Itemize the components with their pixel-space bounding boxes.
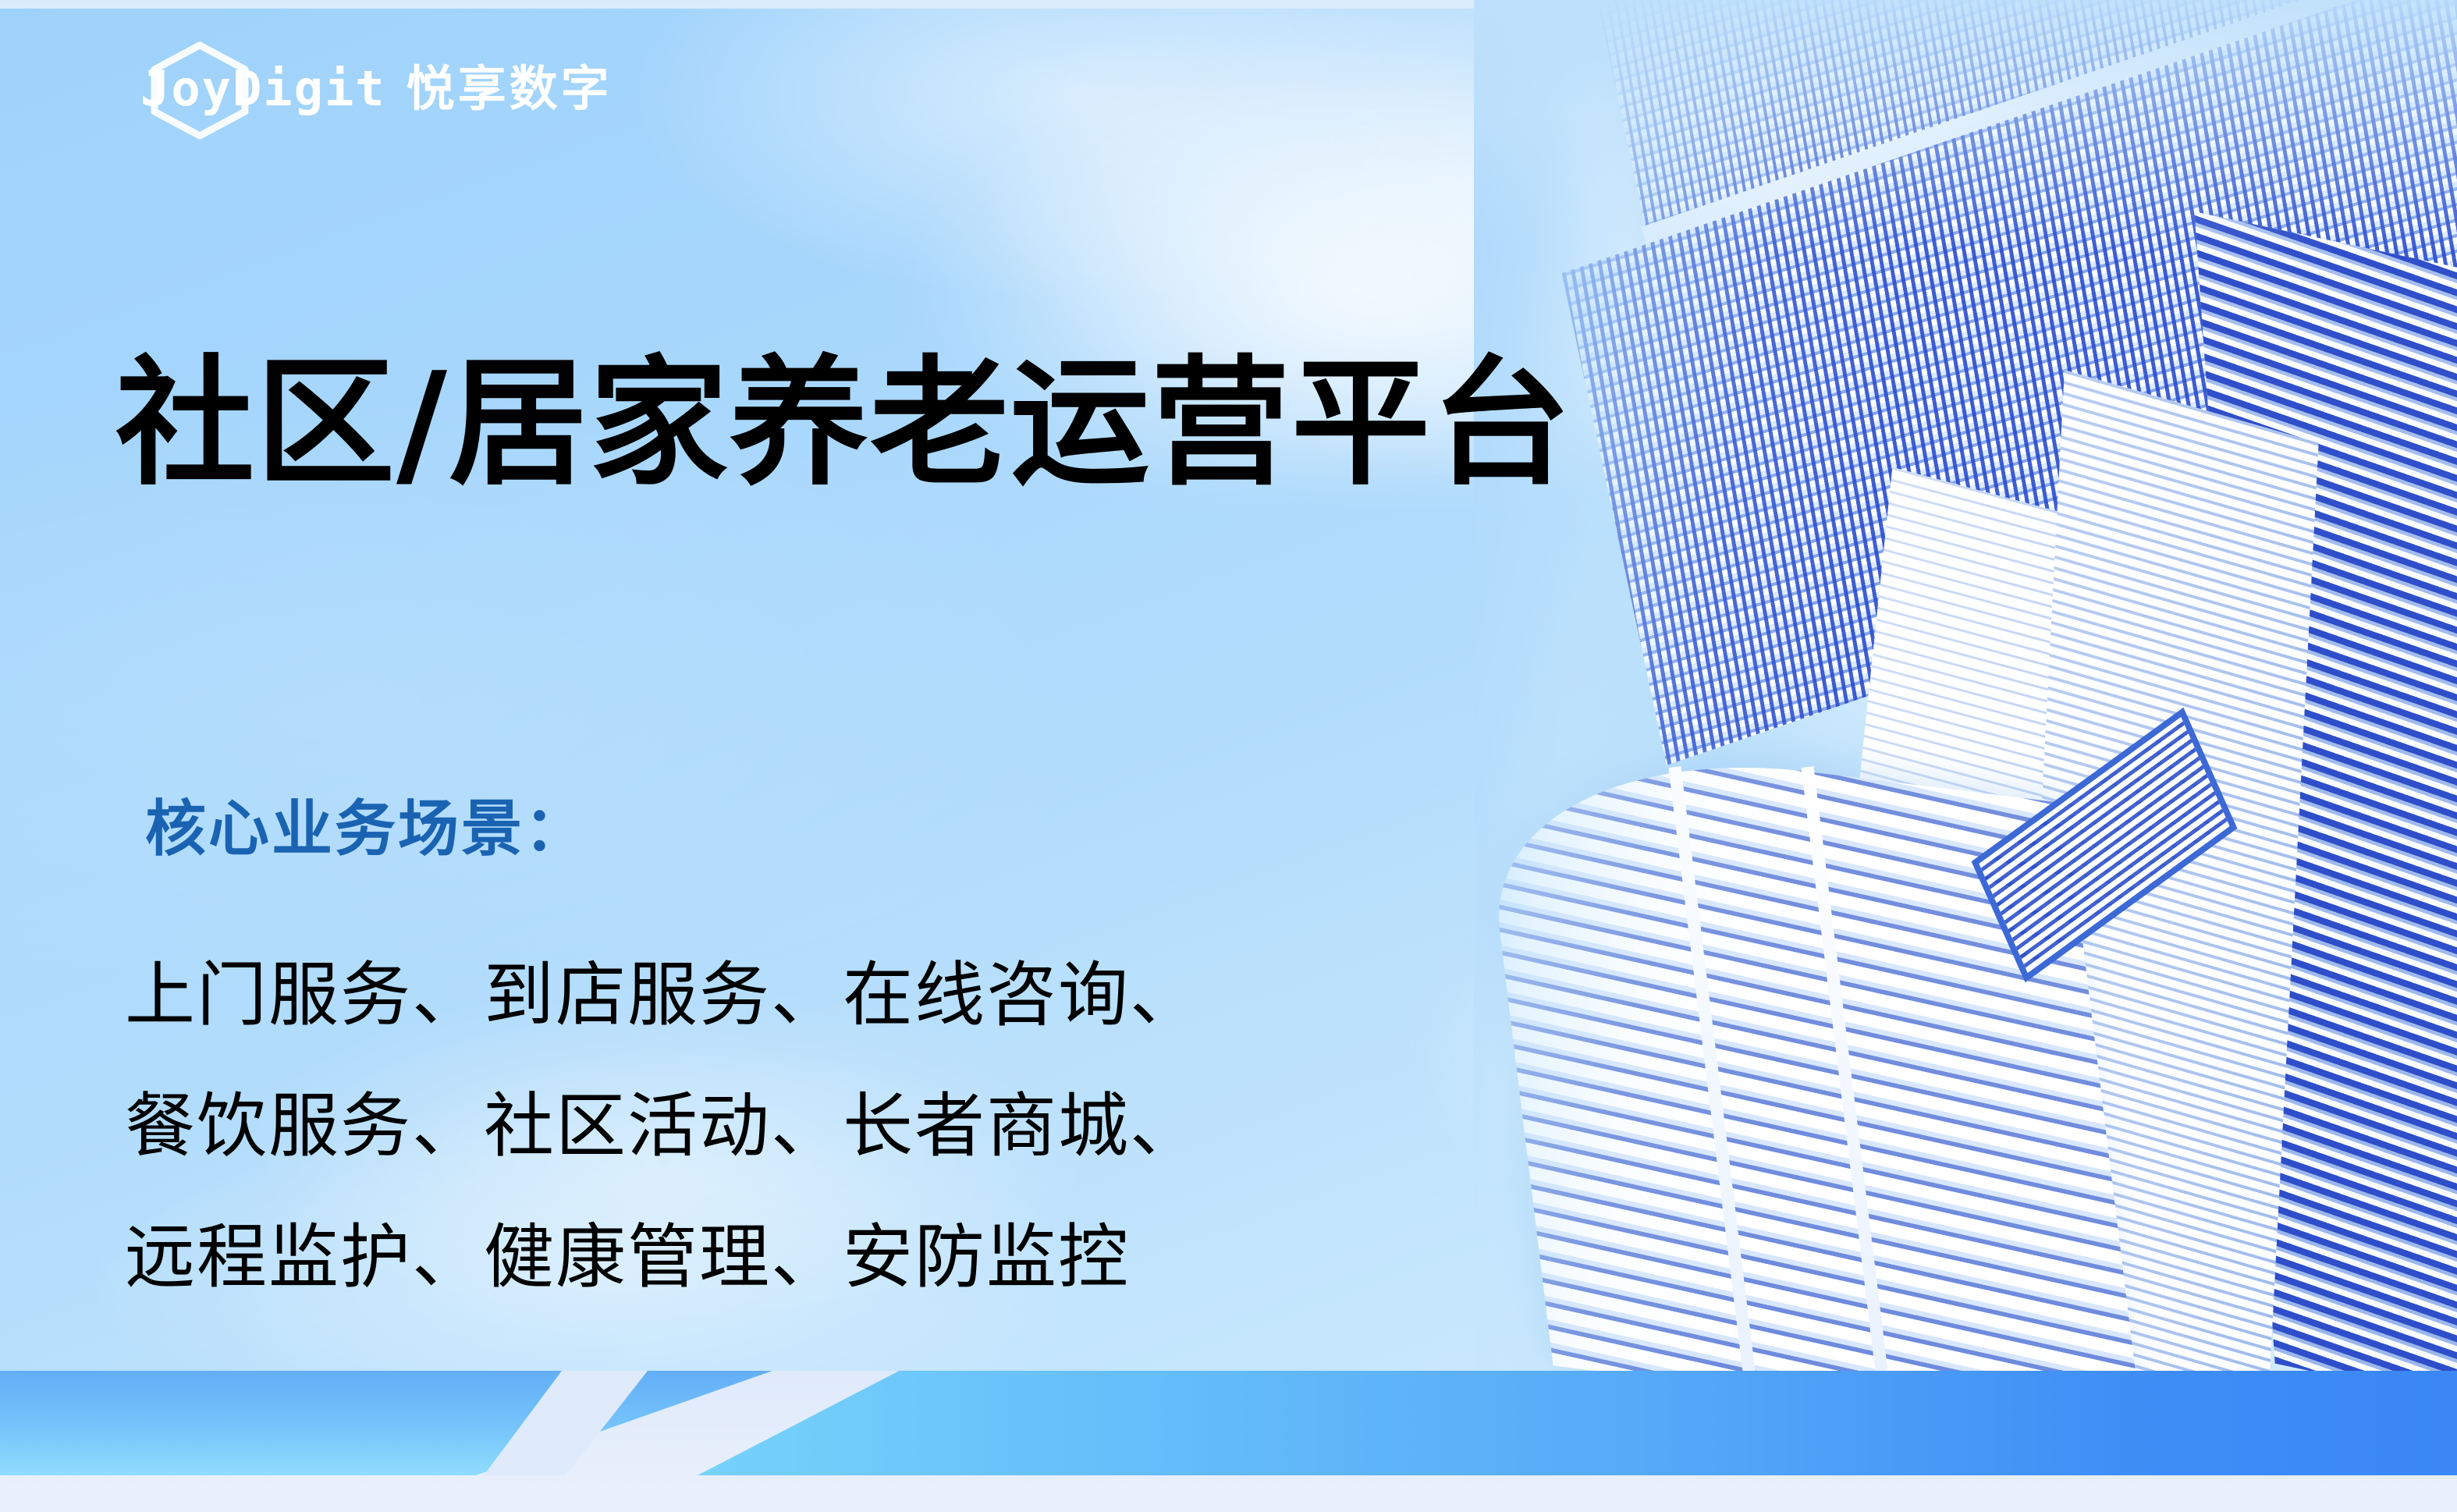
skyscraper-photo	[1474, 0, 2457, 1371]
brand-logo-text: JoyDigit 悦享数字	[140, 65, 612, 113]
scenario-line: 上门服务、到店服务、在线咨询、	[125, 930, 1202, 1061]
bottom-accent-band	[0, 1371, 2457, 1475]
band-segment-right	[624, 1371, 2457, 1475]
scenario-line: 餐饮服务、社区活动、长者商城、	[125, 1061, 1202, 1192]
band-segment-left	[0, 1371, 772, 1475]
brand-logo-cn: 悦享数字	[407, 65, 612, 113]
page-title: 社区/居家养老运营平台	[115, 349, 1572, 499]
scenario-list: 上门服务、到店服务、在线咨询、 餐饮服务、社区活动、长者商城、 远程监护、健康管…	[125, 930, 1202, 1323]
brand-logo-en: JoyDigit	[140, 65, 386, 113]
scenario-line: 远程监护、健康管理、安防监控	[125, 1192, 1202, 1323]
brand-logo[interactable]: JoyDigit 悦享数字	[131, 34, 612, 144]
slide-root: JoyDigit 悦享数字 社区/居家养老运营平台 核心业务场景： 上门服务、到…	[0, 0, 2457, 1512]
section-heading: 核心业务场景：	[145, 780, 588, 868]
